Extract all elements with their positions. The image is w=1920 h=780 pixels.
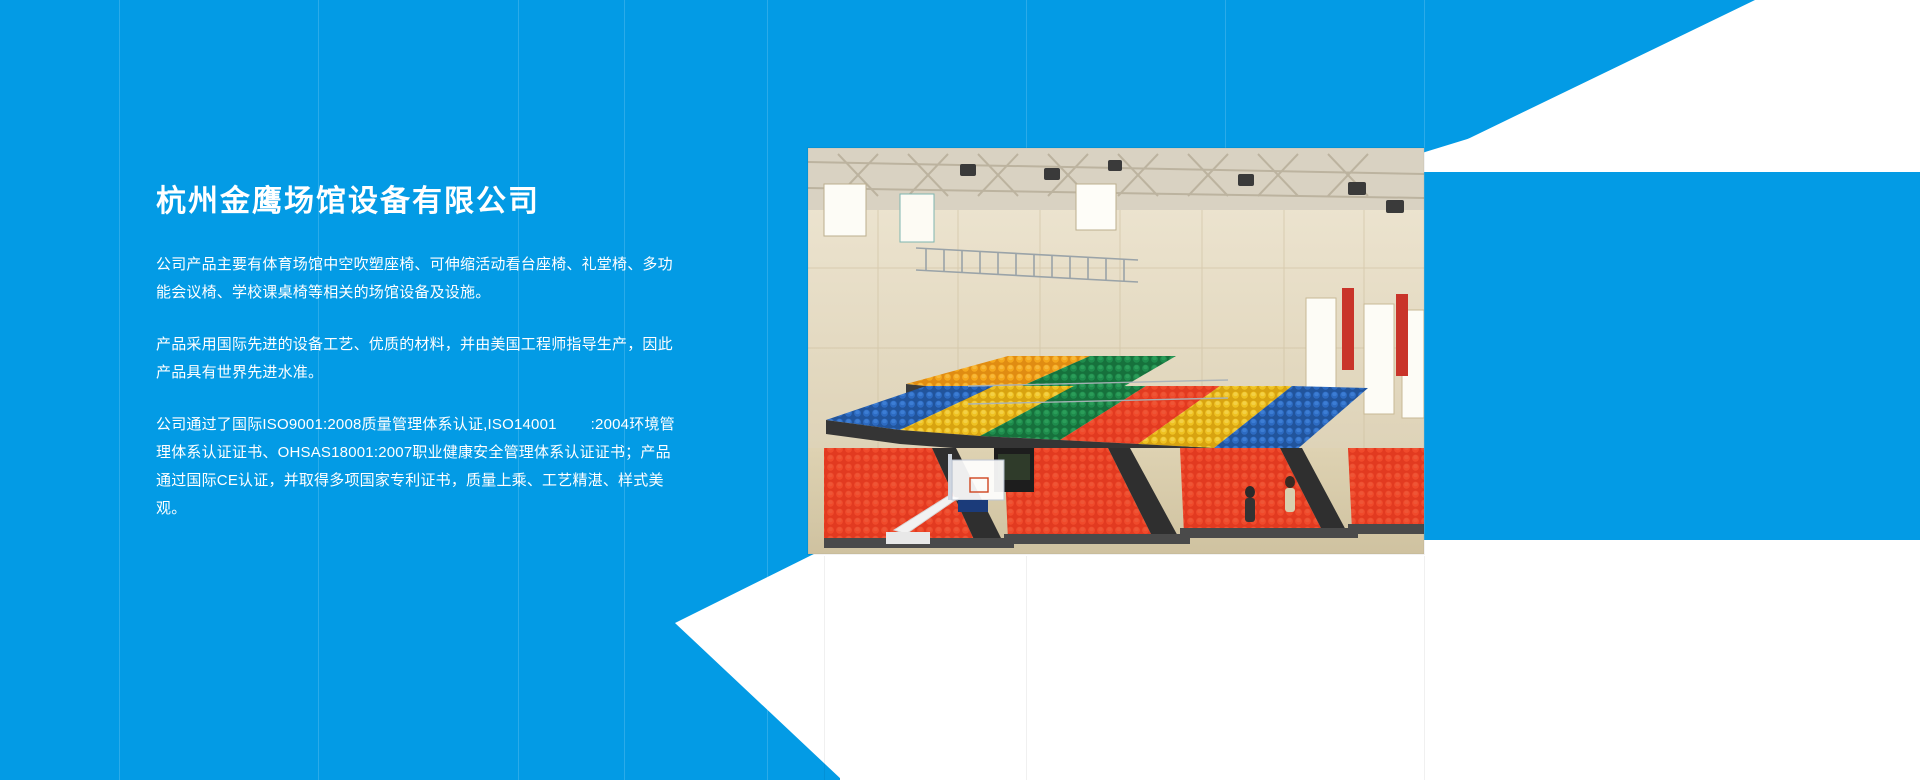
page-title: 杭州金鹰场馆设备有限公司 bbox=[156, 182, 676, 221]
bottom-left-pointing-arrow-wedge bbox=[675, 540, 1920, 780]
cert-text-part1: 公司通过了国际ISO9001:2008质量管理体系认证,ISO14001 bbox=[156, 416, 557, 433]
intro-paragraph-products: 公司产品主要有体育场馆中空吹塑座椅、可伸缩活动看台座椅、礼堂椅、多功能会议椅、学… bbox=[156, 251, 676, 307]
hero-banner-stage: 杭州金鹰场馆设备有限公司 公司产品主要有体育场馆中空吹塑座椅、可伸缩活动看台座椅… bbox=[0, 0, 1920, 780]
hero-text-column: 杭州金鹰场馆设备有限公司 公司产品主要有体育场馆中空吹塑座椅、可伸缩活动看台座椅… bbox=[156, 182, 676, 523]
gymnasium-photo-illustration bbox=[808, 148, 1424, 554]
intro-paragraph-certifications: 公司通过了国际ISO9001:2008质量管理体系认证,ISO14001:200… bbox=[156, 411, 676, 523]
intro-paragraph-quality: 产品采用国际先进的设备工艺、优质的材料，并由美国工程师指导生产，因此产品具有世界… bbox=[156, 331, 676, 387]
gymnasium-photo bbox=[808, 148, 1424, 554]
